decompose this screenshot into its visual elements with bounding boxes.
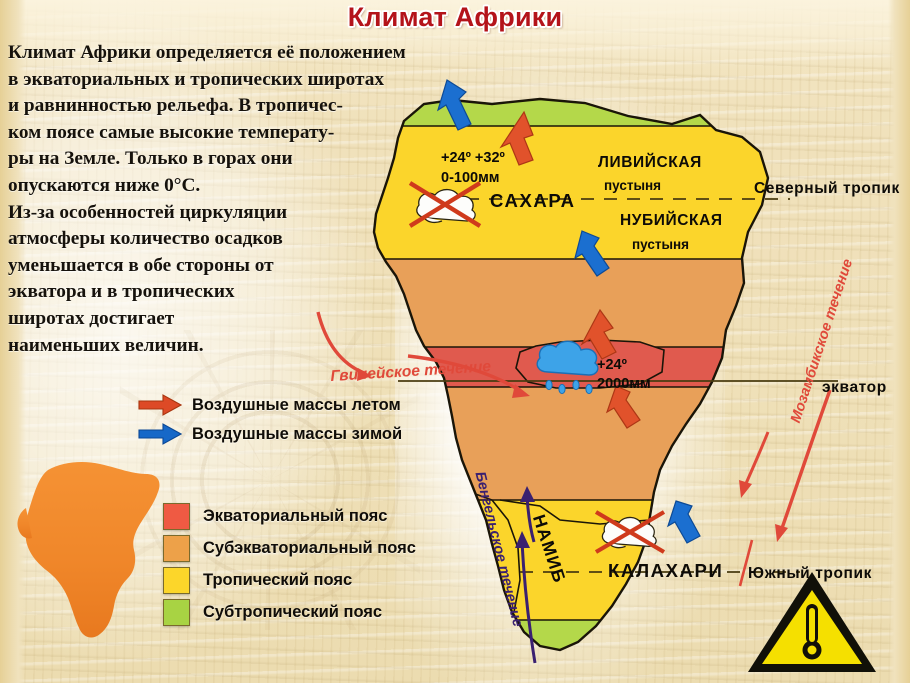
legend-air-masses: Воздушные массы летом Воздушные массы зи… [138,392,402,450]
map-label-libyan-desert-sub: пустыня [604,178,661,193]
intro-line: широтах достигает [8,306,428,333]
warning-thermometer-icon [748,572,876,672]
slide-canvas: Климат Африки Климат Африки определяется… [0,0,910,683]
legend-swatch-subequatorial [163,535,190,562]
band-subtropical-south [360,620,780,680]
intro-line: Климат Африки определяется её положением [8,40,428,67]
mozambique-current-branch [744,432,768,488]
map-label-libyan-desert: ЛИВИЙСКАЯ [598,154,702,172]
intro-line: экватора и в тропических [8,279,428,306]
mozambique-current-head [775,524,788,542]
legend-band-equatorial-label: Экваториальный пояс [203,507,387,526]
intro-line: и равнинностью рельефа. В тропичес- [8,93,428,120]
legend-band-tropical-label: Тропический пояс [203,571,352,590]
map-label-nubian-desert-sub: пустыня [632,237,689,252]
legend-band-subtropical-label: Субтропический пояс [203,603,382,622]
legend-band-equatorial: Экваториальный пояс [163,500,416,532]
legend-band-subtropical: Субтропический пояс [163,596,416,628]
intro-line: наименьших величин. [8,333,428,360]
winter-arrow-kalahari [668,501,700,543]
sahara-precipitation-value: 0-100мм [441,170,500,186]
legend-band-subequatorial: Субэкваториальный пояс [163,532,416,564]
map-label-north-tropic: Северный тропик [754,180,900,198]
legend-item-winter-label: Воздушные массы зимой [192,425,402,444]
legend-item-summer: Воздушные массы летом [138,392,402,418]
legend-swatch-equatorial [163,503,190,530]
legend-swatch-subtropical [163,599,190,626]
sahara-temperature-value: +24º +32º [441,150,505,166]
page-title: Климат Африки [0,2,910,33]
africa-silhouette-shape [25,462,159,637]
africa-silhouette-decoration [17,462,159,637]
equator-precipitation-value: 2000мм [597,376,651,392]
map-label-kalahari: КАЛАХАРИ [608,560,723,582]
legend-item-winter: Воздушные массы зимой [138,421,402,447]
intro-line: атмосферы количество осадков [8,226,428,253]
mozambique-current-branch-head [739,480,752,498]
map-label-equator: экватор [822,379,887,397]
intro-line: в экваториальных и тропических широтах [8,67,428,94]
intro-line: опускаются ниже 0°С. [8,173,428,200]
intro-line: Из-за особенностей циркуляции [8,200,428,227]
map-label-nubian-desert: НУБИЙСКАЯ [620,212,723,230]
map-label-sahara: САХАРА [490,190,576,212]
legend-item-summer-label: Воздушные массы летом [192,396,401,415]
map-label-south-tropic: Южный тропик [748,565,872,583]
intro-paragraph: Климат Африки определяется её положением… [8,40,428,359]
intro-line: уменьшается в обе стороны от [8,253,428,280]
legend-band-subequatorial-label: Субэкваториальный пояс [203,539,416,558]
band-subequatorial-south [360,387,780,500]
intro-line: ком поясе самые высокие температу- [8,120,428,147]
intro-line: ры на Земле. Только в горах они [8,146,428,173]
legend-climate-bands: Экваториальный пояс Субэкваториальный по… [163,500,416,628]
arrow-right-icon [138,394,182,416]
legend-band-tropical: Тропический пояс [163,564,416,596]
equator-temperature-value: +24º [597,357,627,373]
arrow-right-icon [138,423,182,445]
legend-swatch-tropical [163,567,190,594]
